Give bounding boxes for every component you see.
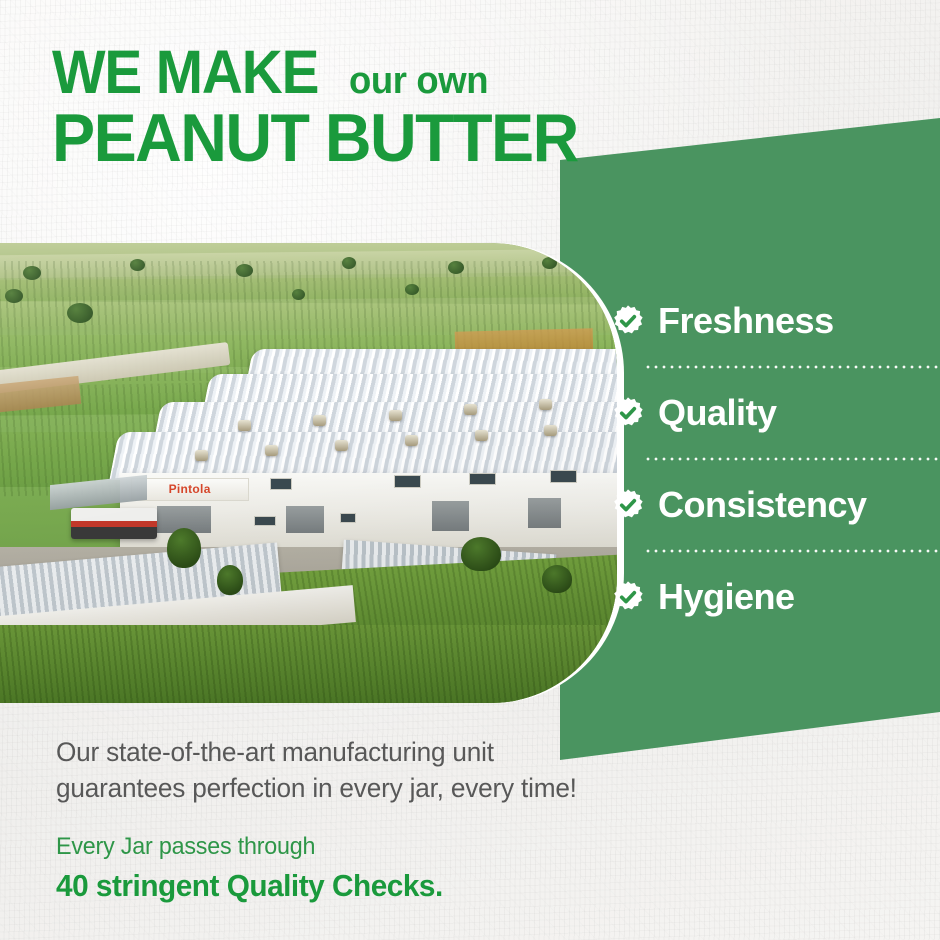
feature-label: Consistency [658, 487, 867, 523]
bush-icon [167, 528, 201, 568]
brand-signboard: Pintola [131, 478, 249, 501]
bottom-copy-block: Our state-of-the-art manufacturing unit … [56, 735, 736, 907]
facade-window [340, 513, 356, 523]
roof-vent [238, 420, 251, 431]
check-badge-icon [612, 305, 644, 337]
bush-icon [217, 565, 243, 595]
callout-line-2: 40 stringent Quality Checks. [56, 865, 709, 907]
roof-vent [539, 399, 552, 410]
facade-window [469, 473, 496, 486]
quality-check-callout: Every Jar passes through 40 stringent Qu… [56, 831, 736, 907]
feature-row-freshness: Freshness [612, 290, 940, 352]
facade-window [550, 470, 577, 483]
headline-primary-text: WE MAKE [52, 44, 318, 102]
tree-icon [236, 264, 253, 277]
brand-sign-text: Pintola [169, 482, 211, 496]
roof-vent [464, 404, 477, 415]
facade-door [528, 498, 560, 528]
feature-label: Hygiene [658, 579, 795, 615]
facade-window [270, 478, 292, 491]
roof-vent [544, 425, 557, 436]
front-lawn [0, 625, 617, 703]
feature-separator [642, 444, 940, 474]
headline-product-text: PEANUT BUTTER [52, 104, 717, 172]
bush-icon [542, 565, 572, 593]
roof-vent [405, 435, 418, 446]
feature-separator [642, 536, 940, 566]
headline-row-1: WE MAKEour own [52, 44, 752, 102]
tree-icon [67, 303, 93, 323]
facade-door [286, 506, 324, 534]
check-badge-icon [612, 489, 644, 521]
tree-icon [405, 284, 419, 295]
poster-canvas: WE MAKEour own PEANUT BUTTER [0, 0, 940, 940]
headline-block: WE MAKEour own PEANUT BUTTER [52, 44, 752, 172]
feature-row-quality: Quality [612, 382, 940, 444]
feature-label: Quality [658, 395, 777, 431]
facade-window [394, 475, 421, 488]
roof-vent [313, 415, 326, 426]
factory-photo-frame: Pintola [0, 243, 624, 703]
facade-window [254, 516, 276, 526]
feature-label: Freshness [658, 303, 834, 339]
roof-vent [265, 445, 278, 456]
tree-icon [5, 289, 23, 303]
check-badge-icon [612, 397, 644, 429]
factory-photo: Pintola [0, 243, 617, 703]
feature-list: Freshness Quality Consistency [612, 290, 940, 628]
roof-vent [475, 430, 488, 441]
tree-icon [130, 259, 145, 271]
check-badge-icon [612, 581, 644, 613]
body-copy-line-1: Our state-of-the-art manufacturing unit [56, 735, 716, 771]
roof-vent [335, 440, 348, 451]
tree-icon [342, 257, 356, 269]
feature-separator [642, 352, 940, 382]
feature-row-hygiene: Hygiene [612, 566, 940, 628]
bush-icon [461, 537, 501, 571]
tree-icon [292, 289, 305, 300]
headline-secondary-text: our own [349, 63, 488, 99]
delivery-truck [71, 508, 157, 538]
tree-icon [542, 257, 557, 269]
feature-row-consistency: Consistency [612, 474, 940, 536]
roof-vent [195, 450, 208, 461]
roof-vent [389, 410, 402, 421]
facade-door [432, 501, 470, 531]
callout-line-1: Every Jar passes through [56, 831, 716, 862]
body-copy-line-2: guarantees perfection in every jar, ever… [56, 771, 716, 807]
